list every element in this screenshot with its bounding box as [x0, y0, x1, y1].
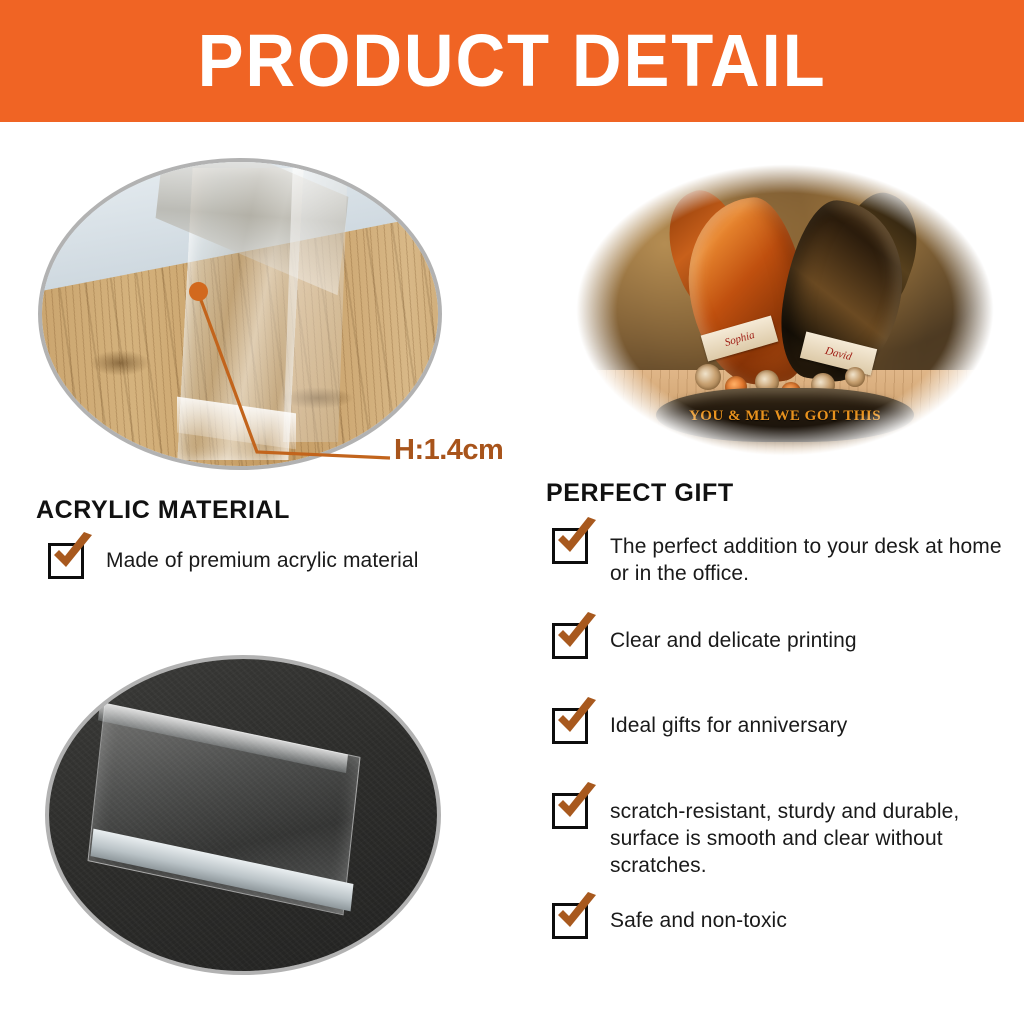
acrylic-slab-on-slate-photo [45, 655, 441, 975]
feature-row: Ideal gifts for anniversary [552, 708, 1004, 744]
feature-row: Made of premium acrylic material [48, 543, 518, 579]
checkbox-icon[interactable] [552, 528, 588, 564]
feature-row: scratch-resistant, sturdy and durable, s… [552, 793, 1012, 880]
name-left-text: Sophia [724, 329, 757, 349]
height-callout-label: H:1.4cm [394, 434, 503, 467]
feature-text: The perfect addition to your desk at hom… [610, 529, 1004, 588]
feature-text: Clear and delicate printing [610, 623, 857, 655]
checkmark-icon [553, 698, 599, 744]
page-title: PRODUCT DETAIL [198, 24, 827, 98]
acrylic-edge-on-wood-photo [38, 158, 442, 470]
horse-figurine-photo: Sophia David YOU & ME WE GOT THIS [570, 160, 1000, 460]
checkmark-icon [553, 783, 599, 829]
callout-dot [189, 282, 208, 301]
checkbox-icon[interactable] [552, 903, 588, 939]
feature-row: Clear and delicate printing [552, 623, 1004, 659]
feature-text: Made of premium acrylic material [106, 543, 418, 575]
section-heading-acrylic-material: ACRYLIC MATERIAL [36, 496, 290, 525]
feature-text: scratch-resistant, sturdy and durable, s… [610, 794, 1012, 880]
rose-decoration [695, 364, 721, 390]
checkmark-icon [49, 533, 95, 579]
feature-text: Ideal gifts for anniversary [610, 708, 847, 740]
checkbox-icon[interactable] [552, 793, 588, 829]
checkmark-icon [553, 893, 599, 939]
wood-scene [42, 162, 438, 466]
checkmark-icon [553, 518, 599, 564]
header-banner: PRODUCT DETAIL [0, 0, 1024, 122]
checkmark-icon [553, 613, 599, 659]
checkbox-icon[interactable] [552, 623, 588, 659]
checkbox-icon[interactable] [552, 708, 588, 744]
figurine-base: YOU & ME WE GOT THIS [656, 388, 914, 442]
feature-row: Safe and non-toxic [552, 903, 1004, 939]
feature-text: Safe and non-toxic [610, 903, 787, 935]
feature-row: The perfect addition to your desk at hom… [552, 528, 1004, 588]
acrylic-side-face [283, 162, 348, 442]
checkbox-icon[interactable] [48, 543, 84, 579]
name-right-text: David [824, 344, 853, 362]
figurine-base-text: YOU & ME WE GOT THIS [689, 408, 881, 425]
section-heading-perfect-gift: PERFECT GIFT [546, 479, 734, 508]
